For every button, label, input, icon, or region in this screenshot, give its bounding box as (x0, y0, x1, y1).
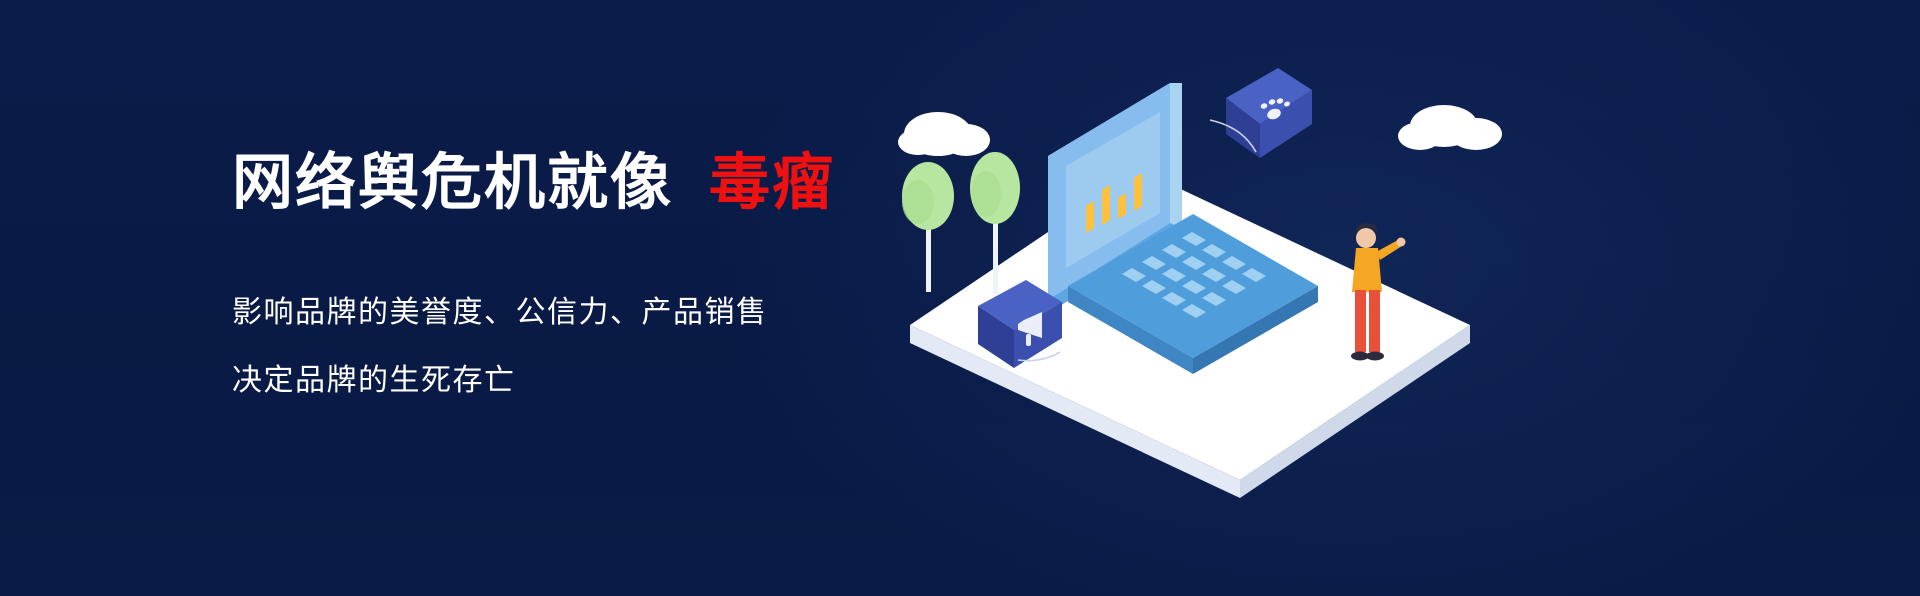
headline-main-text: 网络舆危机就像 (232, 150, 673, 214)
cloud-right (1386, 88, 1526, 168)
hero-banner: 网络舆危机就像 毒瘤 影响品牌的美誉度、公信力、产品销售 决定品牌的生死存亡 (0, 0, 1920, 596)
person-figure (1320, 210, 1430, 400)
headline-accent-text: 毒瘤 (709, 150, 835, 214)
headline: 网络舆危机就像 毒瘤 (232, 150, 992, 214)
subtitle-line-2: 决定品牌的生死存亡 (232, 366, 992, 396)
banner-text-block: 网络舆危机就像 毒瘤 影响品牌的美誉度、公信力、产品销售 决定品牌的生死存亡 (232, 150, 992, 396)
subtitle-line-1: 影响品牌的美誉度、公信力、产品销售 (232, 298, 992, 328)
cloud-left (890, 94, 1020, 174)
isometric-illustration (1020, 40, 1900, 560)
